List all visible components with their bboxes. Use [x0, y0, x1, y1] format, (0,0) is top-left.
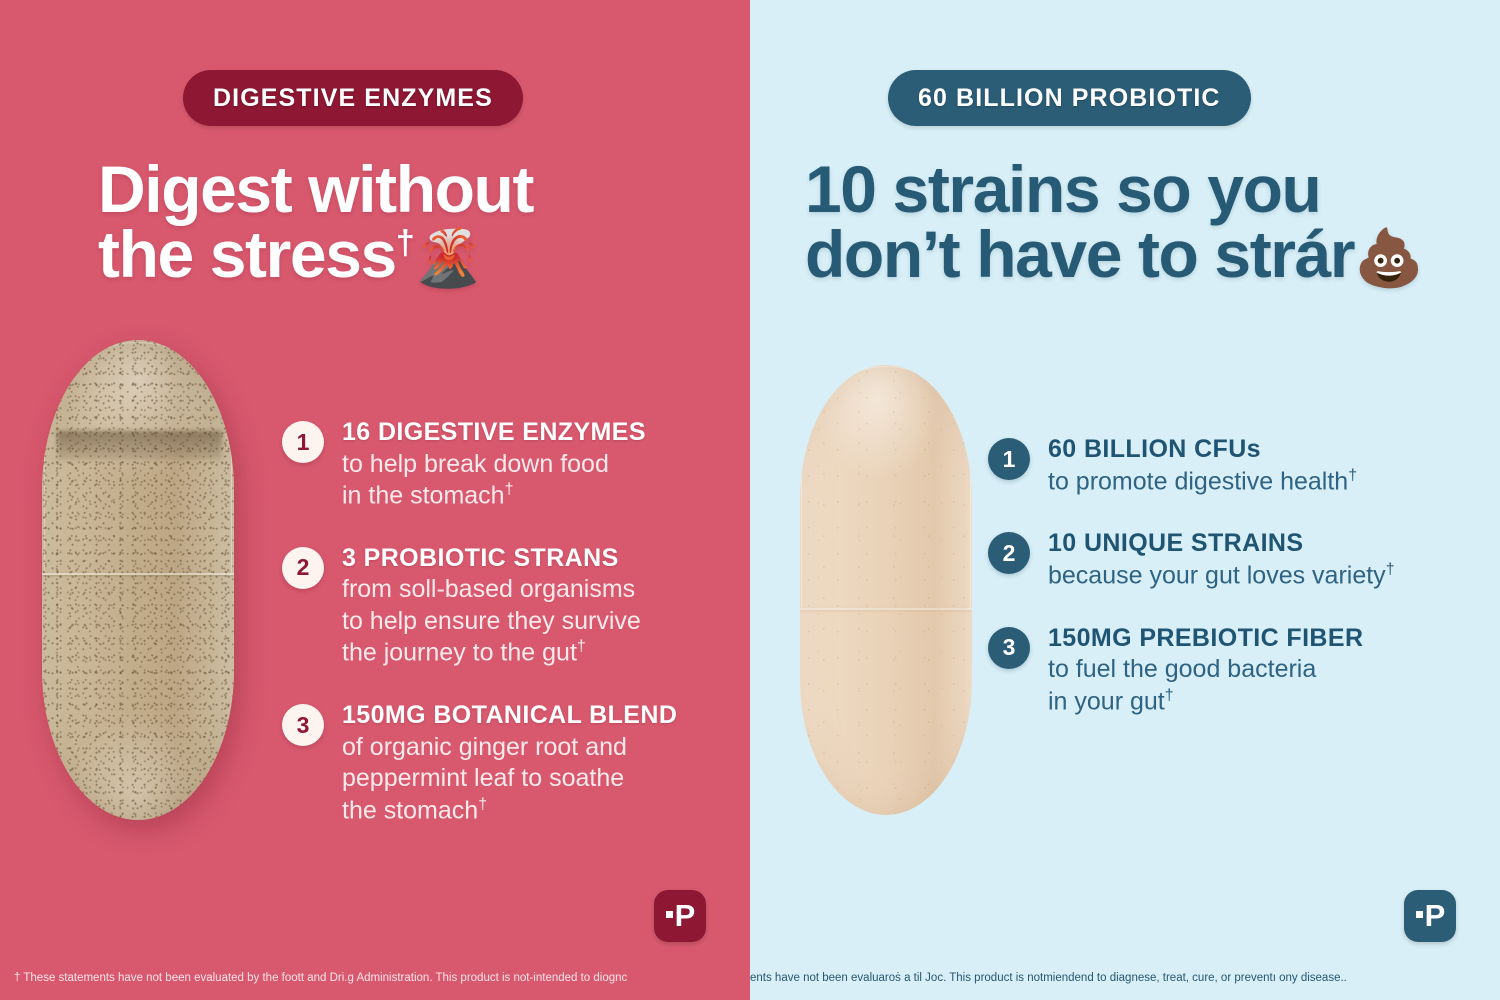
right-badge-pill: 60 BILLION PROBIOTIC — [888, 70, 1251, 126]
left-panel-digestive-enzymes: DIGESTIVE ENZYMES Digest without the str… — [0, 0, 750, 1000]
logo-letter: P — [675, 898, 695, 934]
list-item-desc-text: to fuel the good bacteria in your gut — [1048, 655, 1316, 715]
list-item: 1 16 DIGESTIVE ENZYMES to help break dow… — [282, 418, 742, 512]
logo-letter: P — [1425, 898, 1445, 934]
list-item-desc-text: because your gut loves variety — [1048, 561, 1386, 589]
dagger-sup: † — [505, 481, 514, 498]
dagger-sup: † — [1165, 687, 1174, 704]
comparison-infographic: DIGESTIVE ENZYMES Digest without the str… — [0, 0, 1500, 1000]
left-capsule-image — [42, 340, 234, 820]
right-badge-label: 60 BILLION PROBIOTIC — [918, 84, 1221, 113]
right-headline: 10 strains so you don’t have to strár💩 — [805, 157, 1485, 286]
list-item: 1 60 BILLION CFUs to promote digestive h… — [988, 435, 1463, 497]
left-capsule-seam — [42, 573, 234, 575]
dagger-sup: † — [577, 638, 586, 655]
left-benefits-list: 1 16 DIGESTIVE ENZYMES to help break dow… — [282, 418, 742, 858]
list-item-desc: to fuel the good bacteria in your gut† — [1048, 654, 1463, 717]
right-capsule-cap — [801, 366, 971, 609]
left-brand-logo: P — [654, 890, 706, 942]
list-item: 2 3 PROBIOTIC STRANS from soll-based org… — [282, 544, 742, 669]
logo-dot-icon — [666, 911, 673, 918]
list-number-badge: 1 — [282, 421, 324, 463]
list-number-badge: 3 — [282, 704, 324, 746]
list-item-title: 150MG BOTANICAL BLEND — [342, 701, 742, 731]
list-number-badge: 2 — [988, 532, 1030, 574]
list-item-title: 10 UNIQUE STRAINS — [1048, 529, 1463, 559]
list-item-title: 60 BILLION CFUs — [1048, 435, 1463, 465]
list-item-desc: of organic ginger root and peppermint le… — [342, 732, 742, 827]
list-item: 3 150MG PREBIOTIC FIBER to fuel the good… — [988, 624, 1463, 718]
left-capsule-cap — [44, 342, 232, 577]
left-capsule-speckle-band — [57, 431, 222, 460]
left-badge-pill: DIGESTIVE ENZYMES — [183, 70, 523, 126]
logo-dot-icon — [1416, 911, 1423, 918]
right-brand-logo: P — [1404, 890, 1456, 942]
right-headline-text: 10 strains so you don’t have to strár — [805, 152, 1354, 291]
list-item-desc-text: to help break down food in the stomach — [342, 450, 609, 510]
list-item-desc: because your gut loves variety† — [1048, 560, 1463, 592]
left-footer-disclaimer: † These statements have not been evaluat… — [0, 955, 750, 1000]
list-item-title: 16 DIGESTIVE ENZYMES — [342, 418, 742, 448]
right-panel-probiotic: 60 BILLION PROBIOTIC 10 strains so you d… — [750, 0, 1500, 1000]
list-number-badge: 1 — [988, 438, 1030, 480]
right-capsule-seam — [800, 608, 972, 610]
right-capsule-image — [800, 365, 972, 815]
left-capsule-body — [42, 340, 234, 820]
list-item-title: 3 PROBIOTIC STRANS — [342, 544, 742, 574]
list-item-desc: from soll-based organisms to help ensure… — [342, 574, 742, 669]
volcano-emoji-icon: 🌋 — [413, 226, 483, 289]
left-badge-label: DIGESTIVE ENZYMES — [213, 84, 493, 113]
list-item-desc: to help break down food in the stomach† — [342, 449, 742, 512]
left-headline-dagger: † — [396, 224, 414, 262]
poop-emoji-icon: 💩 — [1354, 226, 1424, 289]
right-benefits-list: 1 60 BILLION CFUs to promote digestive h… — [988, 435, 1463, 749]
dagger-sup: † — [1348, 467, 1357, 484]
dagger-sup: † — [478, 796, 487, 813]
list-number-badge: 2 — [282, 547, 324, 589]
list-item-desc-text: to promote digestive health — [1048, 467, 1348, 495]
right-footer-disclaimer: ents have not been evaluaroṡ a til Joc. … — [750, 955, 1500, 1000]
list-number-badge: 3 — [988, 627, 1030, 669]
list-item: 3 150MG BOTANICAL BLEND of organic ginge… — [282, 701, 742, 826]
left-headline: Digest without the stress†🌋 — [98, 157, 750, 286]
right-capsule-body — [800, 365, 972, 815]
list-item-desc: to promote digestive health† — [1048, 466, 1463, 498]
list-item: 2 10 UNIQUE STRAINS because your gut lov… — [988, 529, 1463, 591]
list-item-desc-text: from soll-based organisms to help ensure… — [342, 575, 641, 666]
dagger-sup: † — [1386, 561, 1395, 578]
list-item-title: 150MG PREBIOTIC FIBER — [1048, 624, 1463, 654]
